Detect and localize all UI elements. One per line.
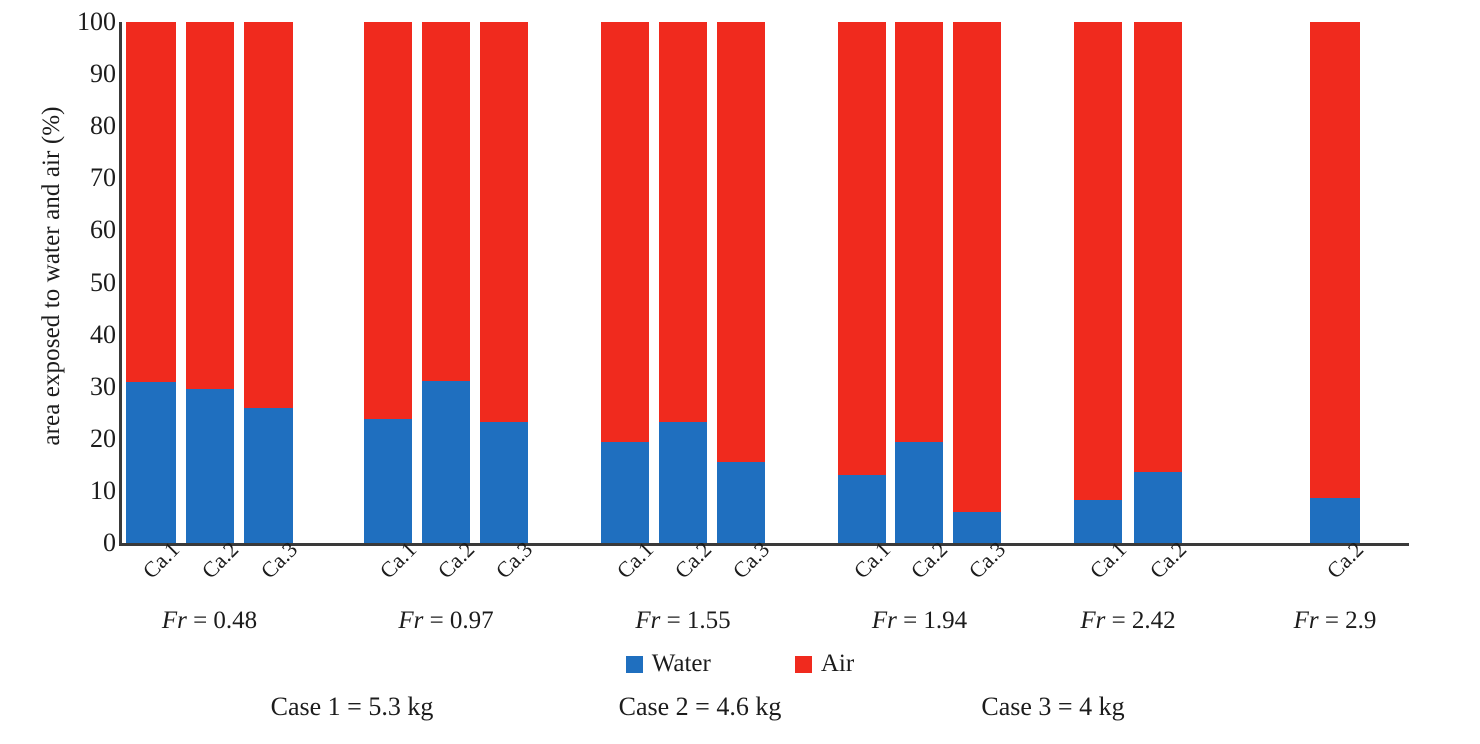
bar-segment-air[interactable] xyxy=(601,22,649,442)
bar-stack[interactable] xyxy=(659,22,707,543)
bar-segment-water[interactable] xyxy=(186,389,234,543)
bar-stack[interactable] xyxy=(1134,22,1182,543)
bar-stack[interactable] xyxy=(601,22,649,543)
bar-segment-water[interactable] xyxy=(244,408,293,543)
y-tick-label: 50 xyxy=(38,270,116,296)
x-group-label: Fr = 1.55 xyxy=(573,608,793,633)
chart-legend: WaterAir xyxy=(0,650,1480,678)
bar-stack[interactable] xyxy=(244,22,293,543)
case-caption: Case 1 = 5.3 kg xyxy=(192,694,512,720)
bar-segment-air[interactable] xyxy=(364,22,412,419)
bar-segment-water[interactable] xyxy=(480,422,528,543)
bar-segment-air[interactable] xyxy=(838,22,886,475)
bar-segment-air[interactable] xyxy=(895,22,943,442)
bar-segment-air[interactable] xyxy=(422,22,470,381)
y-tick-label: 40 xyxy=(38,322,116,348)
legend-label: Air xyxy=(821,650,854,678)
legend-swatch-water xyxy=(626,656,643,673)
legend-label: Water xyxy=(652,650,711,678)
bar-segment-water[interactable] xyxy=(1134,472,1182,543)
bar-segment-water[interactable] xyxy=(126,382,176,543)
bar-stack[interactable] xyxy=(126,22,176,543)
x-group-label: Fr = 1.94 xyxy=(810,608,1030,633)
bar-segment-water[interactable] xyxy=(895,442,943,543)
bar-segment-air[interactable] xyxy=(1134,22,1182,472)
legend-item-air[interactable]: Air xyxy=(795,650,854,678)
bar-segment-water[interactable] xyxy=(364,419,412,543)
bar-stack[interactable] xyxy=(480,22,528,543)
y-tick-label: 80 xyxy=(38,113,116,139)
x-group-label: Fr = 2.9 xyxy=(1225,608,1445,633)
bar-segment-air[interactable] xyxy=(126,22,176,382)
bar-segment-water[interactable] xyxy=(422,381,470,543)
bar-stack[interactable] xyxy=(186,22,234,543)
bar-segment-air[interactable] xyxy=(480,22,528,422)
bar-stack[interactable] xyxy=(364,22,412,543)
bar-stack[interactable] xyxy=(838,22,886,543)
bar-segment-water[interactable] xyxy=(1074,500,1122,543)
plot-area xyxy=(119,22,1460,543)
case-caption: Case 3 = 4 kg xyxy=(893,694,1213,720)
y-tick-label: 60 xyxy=(38,217,116,243)
y-tick-label: 100 xyxy=(38,9,116,35)
bar-segment-air[interactable] xyxy=(659,22,707,422)
bar-segment-water[interactable] xyxy=(717,462,765,543)
bar-segment-water[interactable] xyxy=(1310,498,1360,543)
y-tick-label: 30 xyxy=(38,374,116,400)
bar-stack[interactable] xyxy=(1074,22,1122,543)
bar-segment-water[interactable] xyxy=(659,422,707,543)
bar-stack[interactable] xyxy=(717,22,765,543)
bar-stack[interactable] xyxy=(953,22,1001,543)
y-tick-label: 90 xyxy=(38,61,116,87)
bar-stack[interactable] xyxy=(895,22,943,543)
y-tick-label: 0 xyxy=(38,530,116,556)
y-tick-label: 10 xyxy=(38,478,116,504)
stacked-bar-chart: area exposed to water and air (%) 010203… xyxy=(0,0,1480,744)
bar-segment-air[interactable] xyxy=(717,22,765,462)
bar-segment-air[interactable] xyxy=(186,22,234,389)
y-tick-label: 70 xyxy=(38,165,116,191)
y-tick-label: 20 xyxy=(38,426,116,452)
bar-segment-water[interactable] xyxy=(601,442,649,543)
legend-item-water[interactable]: Water xyxy=(626,650,711,678)
bar-segment-air[interactable] xyxy=(953,22,1001,512)
bar-stack[interactable] xyxy=(422,22,470,543)
bar-segment-water[interactable] xyxy=(838,475,886,543)
bar-segment-air[interactable] xyxy=(1310,22,1360,498)
legend-swatch-air xyxy=(795,656,812,673)
case-caption: Case 2 = 4.6 kg xyxy=(540,694,860,720)
bar-stack[interactable] xyxy=(1310,22,1360,543)
bar-segment-air[interactable] xyxy=(1074,22,1122,500)
bar-segment-air[interactable] xyxy=(244,22,293,408)
x-group-label: Fr = 0.48 xyxy=(100,608,320,633)
x-group-label: Fr = 2.42 xyxy=(1018,608,1238,633)
x-group-label: Fr = 0.97 xyxy=(336,608,556,633)
